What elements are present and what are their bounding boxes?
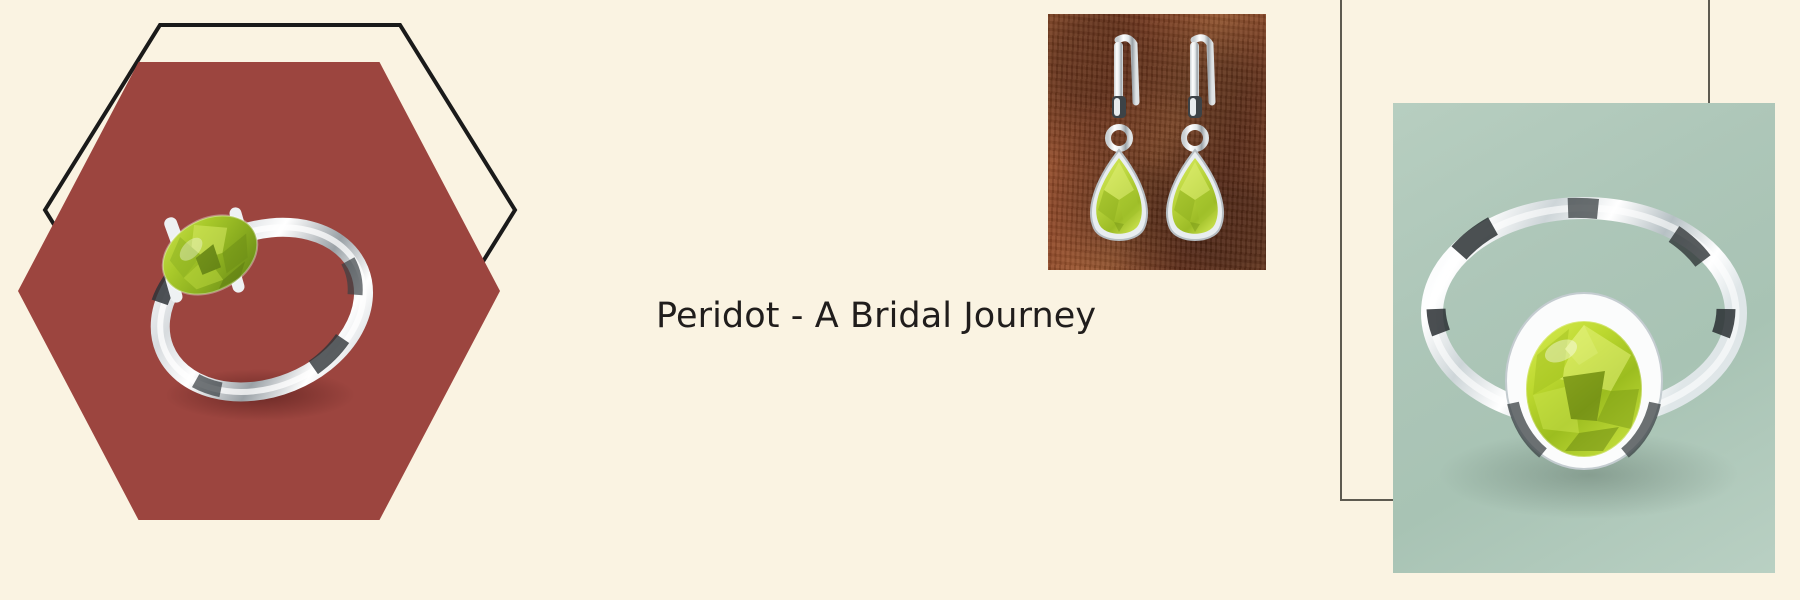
bezel-ring-illustration: [1393, 103, 1775, 573]
frame-line-right-vertical: [1708, 0, 1710, 112]
solitaire-ring-image: [110, 155, 400, 425]
banner: Peridot - A Bridal Journey: [0, 0, 1800, 600]
page-title: Peridot - A Bridal Journey: [656, 296, 1096, 336]
earrings-illustration: [1048, 14, 1266, 270]
bezel-peridot-ring-image: [1393, 103, 1775, 573]
peridot-earrings-image: [1048, 14, 1266, 270]
frame-line-left-vertical: [1340, 0, 1342, 500]
